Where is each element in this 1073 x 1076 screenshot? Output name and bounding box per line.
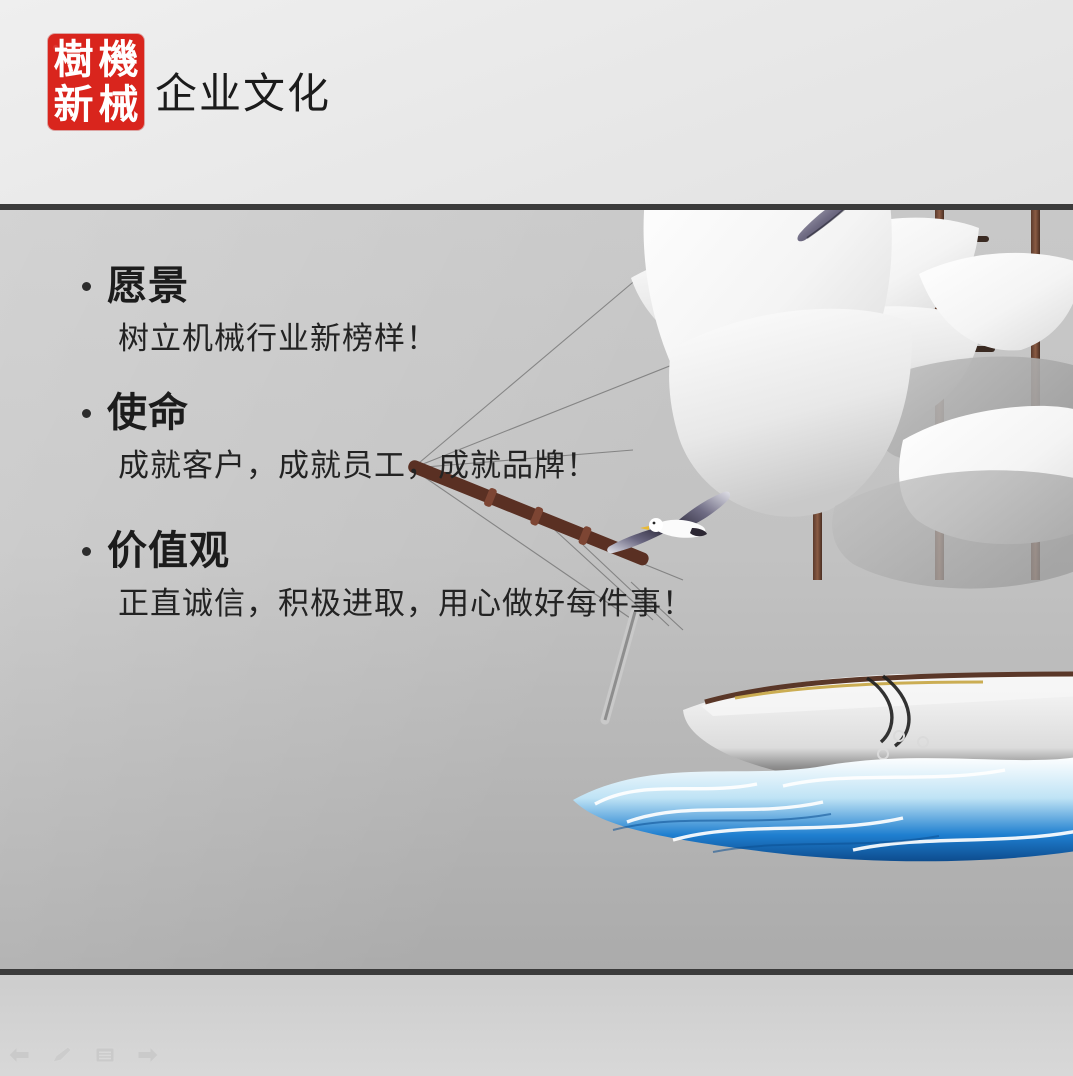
bullet-block-mission: 使命 成就客户，成就员工，成就品牌！ xyxy=(82,391,598,485)
divider-bottom xyxy=(0,969,1073,975)
slide-body: 愿景 树立机械行业新榜样！ 使命 成就客户，成就员工，成就品牌！ 价值观 正直诚… xyxy=(0,210,1073,969)
company-logo-seal: 樹 機 新 械 xyxy=(48,34,144,130)
seal-char-3: 新 xyxy=(51,82,96,127)
bullet-block-values: 价值观 正直诚信，积极进取，用心做好每件事！ xyxy=(82,529,694,623)
bullet-heading: 使命 xyxy=(82,391,598,435)
bullet-dot-icon xyxy=(82,282,91,291)
seal-char-2: 機 xyxy=(96,37,141,82)
pen-icon[interactable] xyxy=(49,1044,75,1066)
bullet-title-values: 价值观 xyxy=(107,529,230,573)
seal-char-4: 械 xyxy=(96,82,141,127)
bullet-dot-icon xyxy=(82,409,91,418)
presentation-toolbar[interactable] xyxy=(6,1040,161,1070)
bullet-heading: 愿景 xyxy=(82,264,438,308)
slide-footer xyxy=(0,975,1073,1076)
page-title: 企业文化 xyxy=(155,60,331,121)
slide-header: 樹 機 新 械 企业文化 xyxy=(0,0,1073,205)
next-slide-icon[interactable] xyxy=(135,1044,161,1066)
menu-icon[interactable] xyxy=(92,1044,118,1066)
bullet-text-values: 正直诚信，积极进取，用心做好每件事！ xyxy=(118,586,694,623)
bullet-title-vision: 愿景 xyxy=(107,264,189,308)
bullet-block-vision: 愿景 树立机械行业新榜样！ xyxy=(82,264,438,358)
bullet-text-mission: 成就客户，成就员工，成就品牌！ xyxy=(118,448,598,485)
bullet-heading: 价值观 xyxy=(82,529,694,573)
divider-top xyxy=(0,204,1073,210)
seal-char-1: 樹 xyxy=(51,37,96,82)
bullet-dot-icon xyxy=(82,547,91,556)
previous-slide-icon[interactable] xyxy=(6,1044,32,1066)
bullet-text-vision: 树立机械行业新榜样！ xyxy=(118,321,438,358)
seal-character-grid: 樹 機 新 械 xyxy=(51,37,141,127)
presentation-slide: 樹 機 新 械 企业文化 xyxy=(0,0,1073,1076)
bullet-title-mission: 使命 xyxy=(107,391,189,435)
